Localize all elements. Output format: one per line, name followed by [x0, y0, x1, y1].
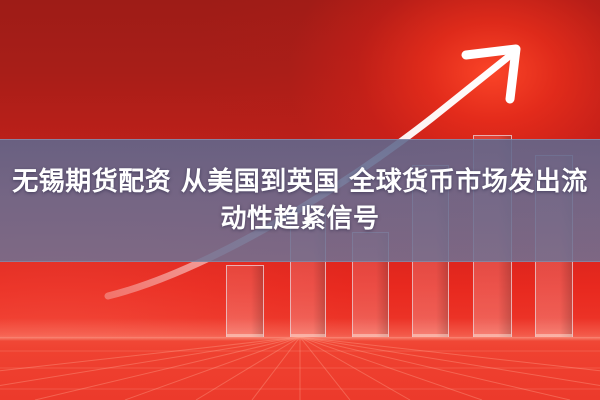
headline-line-2: 动性趋紧信号 [220, 204, 379, 235]
headline-line-1: 无锡期货配资 从美国到英国 全球货币市场发出流 [12, 167, 588, 198]
banner-image: 无锡期货配资 从美国到英国 全球货币市场发出流 动性趋紧信号 [0, 0, 600, 400]
headline-text-block: 无锡期货配资 从美国到英国 全球货币市场发出流 动性趋紧信号 [0, 139, 600, 262]
